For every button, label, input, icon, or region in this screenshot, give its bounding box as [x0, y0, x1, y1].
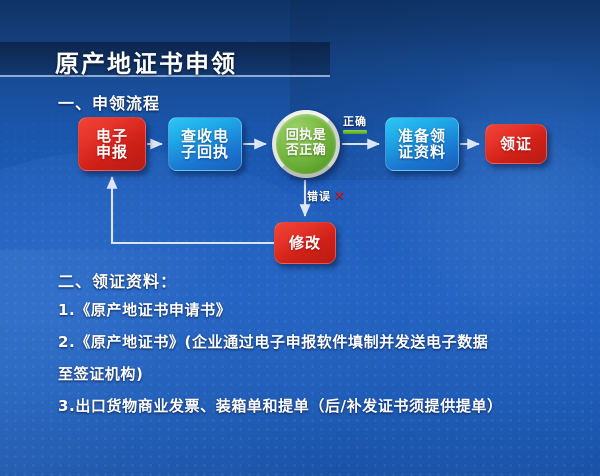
flow-node-label: 回执是否正确 [286, 129, 327, 158]
flow-node-label: 修改 [289, 235, 321, 251]
edge-label-correct-text: 正确 [343, 115, 367, 128]
document-list-item: 至签证机构) [58, 363, 143, 384]
flow-diagram: 电子申报 查收电子回执 回执是否正确 准备领证资料 领证 修改 正确 错误 ✕ [0, 0, 600, 280]
edge-label-wrong: 错误 ✕ [307, 188, 346, 204]
flow-node-xiugai[interactable]: 修改 [274, 222, 336, 264]
flow-node-zhunbei-ziliao[interactable]: 准备领证资料 [385, 117, 459, 171]
flow-node-huizhi-zhengque[interactable]: 回执是否正确 [272, 110, 340, 178]
flow-node-lingzheng[interactable]: 领证 [485, 124, 547, 164]
flow-node-label: 领证 [500, 136, 532, 152]
flow-node-label: 准备领证资料 [398, 128, 446, 160]
document-list-item: 1.《原产地证书申请书》 [58, 299, 231, 320]
slide-canvas: 原产地证书申领 一、申领流程 [0, 0, 600, 476]
cross-mark-icon: ✕ [334, 189, 346, 204]
edge-label-correct: 正确 [343, 113, 367, 134]
document-list-item: 2.《原产地证书》(企业通过电子申报软件填制并发送电子数据 [58, 331, 488, 352]
flow-node-label: 电子申报 [96, 128, 128, 160]
document-list-item: 3.出口货物商业发票、装箱单和提单（后/补发证书须提供提单） [58, 395, 503, 416]
edge-label-correct-underline [343, 130, 367, 134]
flow-node-dianzi-shenbao[interactable]: 电子申报 [78, 117, 146, 171]
flow-node-chashou-huizhi[interactable]: 查收电子回执 [168, 117, 242, 171]
edge-label-wrong-text: 错误 [307, 188, 331, 204]
flow-node-label: 查收电子回执 [181, 128, 229, 160]
section-heading-documents: 二、领证资料： [58, 268, 177, 292]
